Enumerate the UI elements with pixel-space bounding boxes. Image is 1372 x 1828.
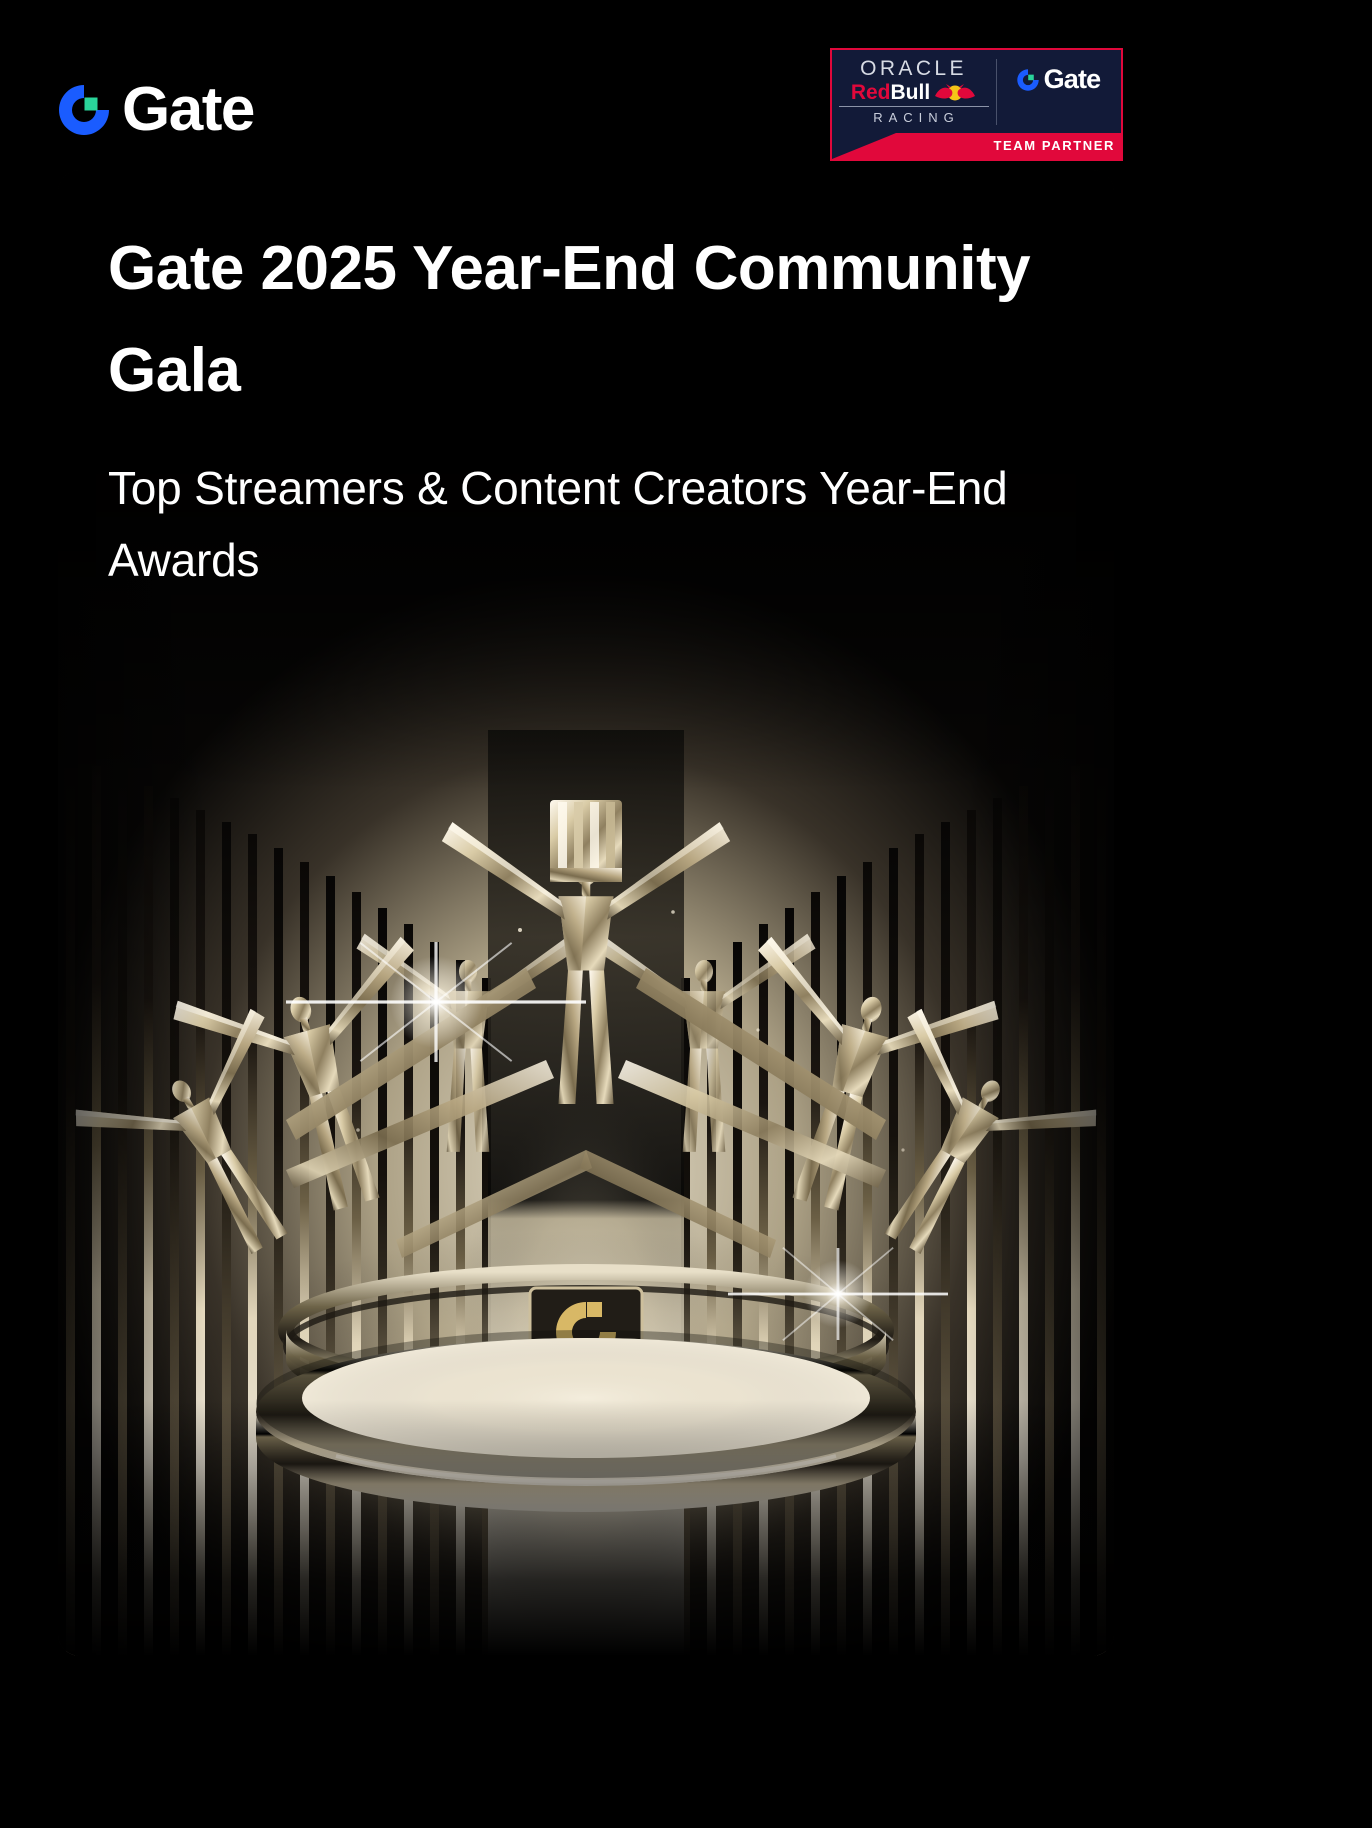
card-heading-block: Gate 2025 Year-End Community Gala Top St… [58,170,1114,596]
gate-brand-label: Gate [122,79,254,141]
badge-gate-lockup: Gate [1016,66,1101,93]
redbull-lockup: ORACLE RedBull [832,50,995,124]
page-subtitle: Top Streamers & Content Creators Year-En… [108,452,1064,596]
announcement-card: Gate 2025 Year-End Community Gala Top St… [58,170,1114,1656]
redbull-team-partner-badge[interactable]: ORACLE RedBull [830,48,1123,161]
badge-divider-rule [839,106,989,107]
gate-logo-icon [1016,68,1040,92]
gate-brand-logo[interactable]: Gate [56,78,254,142]
red-bull-label: RedBull [851,82,930,103]
gate-logo-icon [56,82,112,138]
team-partner-label: TEAM PARTNER [993,136,1115,156]
oracle-label: ORACLE [860,58,967,79]
racing-label: RACING [867,111,960,124]
page-title: Gate 2025 Year-End Community Gala [108,218,1064,422]
badge-vertical-divider [996,59,997,125]
poster-page: Gate ORACLE RedBull [0,0,1372,1828]
red-bull-bulls-icon [934,83,976,103]
team-partner-banner: TEAM PARTNER [832,133,1123,159]
top-bar: Gate ORACLE RedBull [0,0,1372,172]
badge-gate-label: Gate [1044,66,1101,93]
